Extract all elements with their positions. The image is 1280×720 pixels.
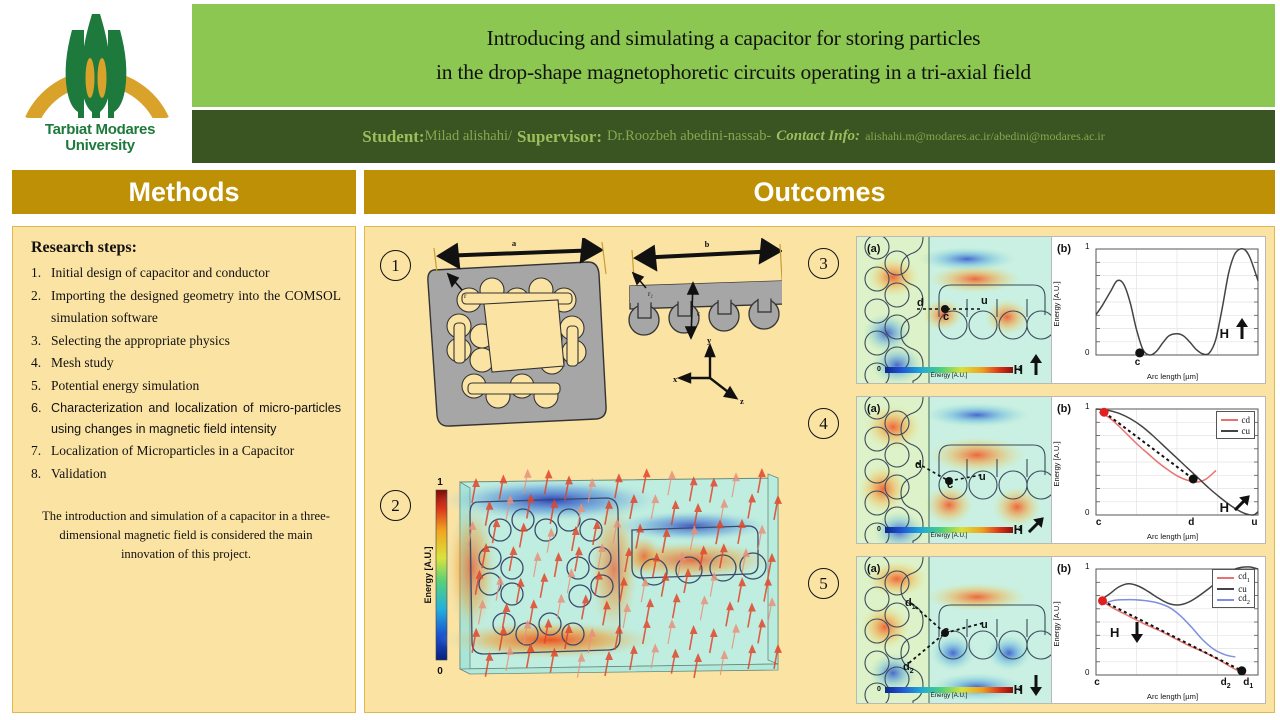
step-text: Validation (51, 463, 341, 485)
research-step: 6.Characterization and localization of m… (31, 398, 341, 439)
contact-label: Contact Info: (776, 128, 860, 145)
logo-wordmark: Tarbiat Modares University (14, 122, 186, 154)
fig2-cbar-max: 1 (437, 477, 443, 488)
dim-c-label: c (697, 309, 701, 318)
legend-swatch (1221, 430, 1238, 432)
y-tick-max: 1 (1085, 562, 1089, 571)
cbar-min-label: 0 (877, 686, 881, 693)
dim-a-label: a (512, 238, 517, 248)
cbar-min-label: 0 (877, 366, 881, 373)
panel-a-tag: (a) (867, 403, 880, 415)
step-text: Importing the designed geometry into the… (51, 285, 341, 329)
figure-2-svg: 1 0 Energy [A.U.] (392, 468, 784, 706)
outcome-row-5: (a)01Energy [A.U.]Hd1d2cu(b)10Energy [A.… (856, 556, 1266, 704)
research-step: 7.Localization of Microparticles in a Ca… (31, 440, 341, 462)
h-field-label: H (1014, 682, 1023, 697)
y-axis-label: Energy [A.U.] (1052, 602, 1061, 647)
x-tick-label: c (1096, 517, 1102, 528)
chart-h-direction-arrow-up-right (1233, 492, 1251, 519)
step-text: Mesh study (51, 352, 341, 374)
methods-panel: Research steps: 1.Initial design of capa… (12, 226, 356, 713)
field-point-label: c (947, 479, 953, 491)
y-axis-label: Energy [A.U.] (1052, 282, 1061, 327)
research-step: 2.Importing the designed geometry into t… (31, 285, 341, 329)
step-number: 7. (31, 440, 51, 462)
title-line-1: Introducing and simulating a capacitor f… (487, 22, 981, 55)
legend-item: cd (1221, 414, 1251, 425)
chart-legend: cdcu (1216, 411, 1256, 439)
h-direction-arrow-up (1027, 354, 1045, 381)
university-logo: Tarbiat Modares University (14, 6, 186, 166)
y-tick-max: 1 (1085, 242, 1089, 251)
h-field-label: H (1014, 522, 1023, 537)
step-text: Localization of Microparticles in a Capa… (51, 440, 341, 462)
panel-b-tag: (b) (1057, 243, 1071, 255)
legend-swatch (1217, 588, 1234, 590)
figure-badge-3: 3 (808, 248, 839, 279)
energy-field-map-5: (a)01Energy [A.U.]Hd1d2cu (856, 556, 1052, 704)
figure-1-geometry: a r b r₂ (392, 238, 782, 433)
research-steps-list: 1.Initial design of capacitor and conduc… (31, 262, 341, 485)
fig2-cbar-min: 0 (437, 666, 443, 677)
fig2-cbar-label: Energy [A.U.] (423, 546, 433, 603)
chart-legend: cd1cucd2 (1212, 569, 1255, 608)
legend-label: cu (1238, 584, 1247, 594)
field-point-label: d2 (903, 661, 914, 675)
panel-a-tag: (a) (867, 563, 880, 575)
field-point-label: u (981, 619, 988, 631)
figure-2-energy-3d: 1 0 Energy [A.U.] (392, 468, 784, 706)
legend-item: cd2 (1217, 594, 1250, 605)
axis-x-label: x (673, 374, 678, 384)
logo-line-2: University (14, 138, 186, 154)
step-number: 1. (31, 262, 51, 284)
legend-item: cu (1221, 425, 1251, 436)
x-tick-label: d1 (1243, 677, 1253, 690)
energy-arc-chart-3: (b)10Energy [A.U.]Arc length [µm]cH (1052, 236, 1266, 384)
legend-label: cd1 (1238, 571, 1250, 584)
title-line-2: in the drop-shape magnetophoretic circui… (436, 56, 1031, 89)
h-direction-arrow-down (1027, 674, 1045, 701)
panel-b-tag: (b) (1057, 563, 1071, 575)
chart-h-direction-arrow-up (1233, 318, 1251, 345)
logo-line-1: Tarbiat Modares (14, 122, 186, 138)
y-tick-max: 1 (1085, 402, 1089, 411)
student-name: Milad alishahi/ (425, 128, 512, 145)
x-axis-label: Arc length [µm] (1052, 532, 1265, 541)
figure-1-svg: a r b r₂ (392, 238, 782, 433)
poster-title-banner: Introducing and simulating a capacitor f… (192, 4, 1275, 107)
innovation-note: The introduction and simulation of a cap… (31, 507, 341, 564)
step-text: Initial design of capacitor and conducto… (51, 262, 341, 284)
step-number: 2. (31, 285, 51, 329)
legend-swatch (1217, 577, 1234, 579)
field-point-label: d1 (905, 597, 916, 611)
field-colorbar: 01Energy [A.U.] (885, 687, 1013, 700)
research-step: 1.Initial design of capacitor and conduc… (31, 262, 341, 284)
field-point-label: d (915, 459, 922, 471)
step-number: 3. (31, 330, 51, 352)
panel-b-tag: (b) (1057, 403, 1071, 415)
step-text: Selecting the appropriate physics (51, 330, 341, 352)
x-axis-label: Arc length [µm] (1052, 692, 1265, 701)
methods-body: Research steps: 1.Initial design of capa… (13, 227, 355, 564)
legend-label: cd (1242, 415, 1251, 425)
x-tick-label: c (1094, 677, 1100, 688)
step-number: 6. (31, 398, 51, 439)
supervisor-name: Dr.Roozbeh abedini-nassab- (607, 128, 771, 145)
cbar-title: Energy [A.U.] (885, 533, 1013, 540)
panel-a-tag: (a) (867, 243, 880, 255)
outcome-row-3: (a)01Energy [A.U.]Hdcu(b)10Energy [A.U.]… (856, 236, 1266, 384)
author-contact-bar: Student: Milad alishahi/ Supervisor: Dr.… (192, 110, 1275, 163)
poster-root: Tarbiat Modares University Introducing a… (0, 0, 1280, 720)
outcomes-section-header: Outcomes (364, 170, 1275, 214)
y-axis-label: Energy [A.U.] (1052, 442, 1061, 487)
figure-badge-4: 4 (808, 408, 839, 439)
x-tick-label: c (1135, 357, 1141, 368)
field-point-label: d (917, 297, 924, 309)
figure-badge-5: 5 (808, 568, 839, 599)
field-colorbar: 01Energy [A.U.] (885, 367, 1013, 380)
step-text: Potential energy simulation (51, 375, 341, 397)
methods-section-header: Methods (12, 170, 356, 214)
research-step: 4.Mesh study (31, 352, 341, 374)
chart-h-label: H (1110, 625, 1119, 640)
energy-arc-chart-4: (b)10Energy [A.U.]Arc length [µm]cducdcu… (1052, 396, 1266, 544)
axis-y-label: y (707, 335, 712, 345)
legend-swatch (1221, 419, 1238, 421)
chart-h-label: H (1220, 326, 1229, 341)
energy-arc-chart-5: (b)10Energy [A.U.]Arc length [µm]cd2d1cd… (1052, 556, 1266, 704)
legend-swatch (1217, 599, 1234, 601)
research-steps-title: Research steps: (31, 239, 341, 257)
field-point-label: u (979, 471, 986, 483)
research-step: 5.Potential energy simulation (31, 375, 341, 397)
contact-value: alishahi.m@modares.ac.ir/abedini@modares… (865, 129, 1105, 144)
step-number: 5. (31, 375, 51, 397)
research-step: 8.Validation (31, 463, 341, 485)
x-tick-label: u (1251, 517, 1257, 528)
chart-h-label: H (1220, 500, 1229, 515)
cbar-title: Energy [A.U.] (885, 373, 1013, 380)
legend-label: cu (1242, 426, 1251, 436)
logo-mark-icon (14, 6, 186, 124)
legend-item: cd1 (1217, 572, 1250, 583)
cbar-title: Energy [A.U.] (885, 693, 1013, 700)
legend-label: cd2 (1238, 593, 1250, 606)
student-label: Student: (362, 127, 424, 147)
dim-b-label: b (705, 239, 710, 249)
h-direction-arrow-up-right (1027, 514, 1045, 541)
step-text: Characterization and localization of mic… (51, 398, 341, 439)
axis-z-label: z (740, 396, 744, 406)
research-step: 3.Selecting the appropriate physics (31, 330, 341, 352)
field-colorbar: 01Energy [A.U.] (885, 527, 1013, 540)
x-axis-label: Arc length [µm] (1052, 372, 1265, 381)
y-tick-min: 0 (1085, 668, 1089, 677)
chart-h-direction-arrow-down (1128, 621, 1146, 648)
supervisor-label: Supervisor: (517, 127, 602, 147)
energy-field-map-3: (a)01Energy [A.U.]Hdcu (856, 236, 1052, 384)
y-tick-min: 0 (1085, 508, 1089, 517)
outcome-row-4: (a)01Energy [A.U.]Hdcu(b)10Energy [A.U.]… (856, 396, 1266, 544)
dim-r2-label: r₂ (648, 290, 653, 298)
step-number: 4. (31, 352, 51, 374)
h-field-label: H (1014, 362, 1023, 377)
cbar-min-label: 0 (877, 526, 881, 533)
x-tick-label: d (1188, 517, 1194, 528)
logo-svg (14, 6, 186, 124)
field-point-label: c (943, 625, 949, 637)
field-point-label: u (981, 295, 988, 307)
step-number: 8. (31, 463, 51, 485)
x-tick-label: d2 (1221, 677, 1231, 690)
y-tick-min: 0 (1085, 348, 1089, 357)
energy-field-map-4: (a)01Energy [A.U.]Hdcu (856, 396, 1052, 544)
field-point-label: c (943, 311, 949, 323)
